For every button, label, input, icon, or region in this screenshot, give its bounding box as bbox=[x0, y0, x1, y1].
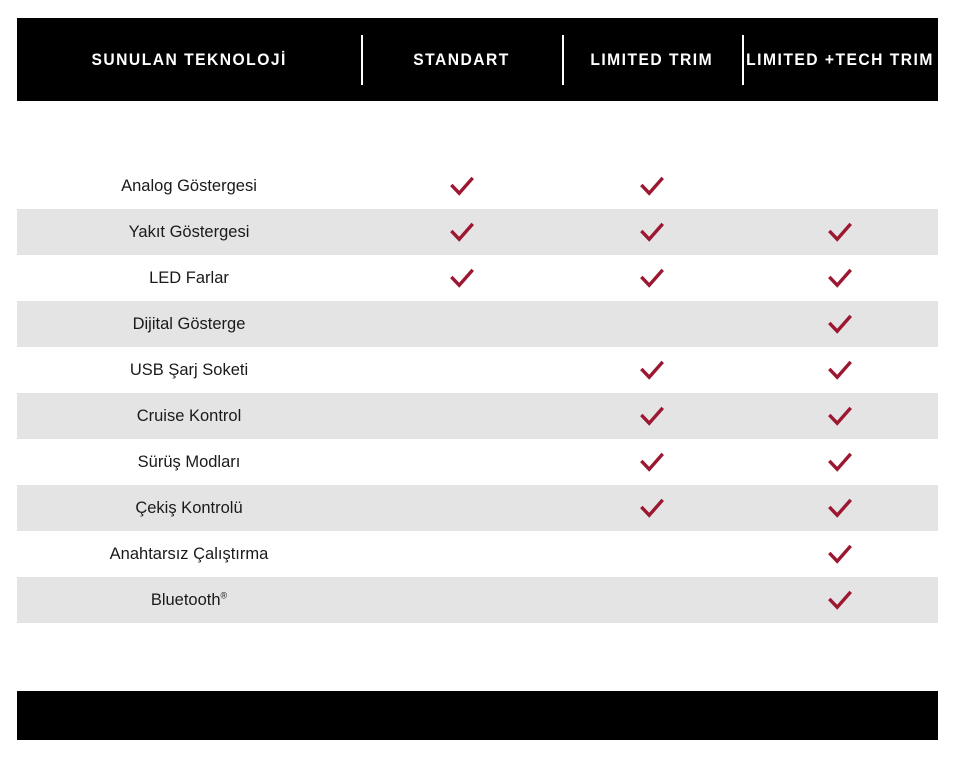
feature-cell: Çekiş Kontrolü bbox=[17, 485, 361, 531]
availability-cell-limited bbox=[562, 439, 742, 485]
availability-cell-limited-tech bbox=[742, 531, 938, 577]
check-icon bbox=[639, 357, 665, 383]
feature-cell: Analog Göstergesi bbox=[17, 163, 361, 209]
feature-cell: Dijital Gösterge bbox=[17, 301, 361, 347]
check-icon bbox=[639, 449, 665, 475]
table-row: Çekiş Kontrolü bbox=[17, 485, 938, 531]
availability-cell-standart bbox=[361, 209, 562, 255]
table-row: Cruise Kontrol bbox=[17, 393, 938, 439]
feature-label: Bluetooth® bbox=[151, 592, 227, 609]
check-icon bbox=[827, 311, 853, 337]
header-cell-standart: STANDART bbox=[361, 18, 562, 101]
feature-cell: Cruise Kontrol bbox=[17, 393, 361, 439]
feature-label: USB Şarj Soketi bbox=[130, 362, 248, 379]
header-cell-feature: SUNULAN TEKNOLOJİ bbox=[17, 18, 361, 101]
check-icon bbox=[827, 265, 853, 291]
check-icon bbox=[449, 219, 475, 245]
availability-cell-standart bbox=[361, 301, 562, 347]
availability-cell-limited-tech bbox=[742, 439, 938, 485]
feature-cell: Bluetooth® bbox=[17, 577, 361, 623]
check-icon bbox=[639, 265, 665, 291]
availability-cell-limited-tech bbox=[742, 301, 938, 347]
feature-label: Analog Göstergesi bbox=[121, 178, 257, 195]
header-label-limited-tech: LIMITED +TECH TRIM bbox=[746, 51, 934, 68]
feature-label: Cruise Kontrol bbox=[137, 408, 242, 425]
check-icon bbox=[449, 173, 475, 199]
feature-cell: Yakıt Göstergesi bbox=[17, 209, 361, 255]
check-icon bbox=[449, 265, 475, 291]
check-icon bbox=[827, 449, 853, 475]
check-icon bbox=[827, 541, 853, 567]
availability-cell-limited-tech bbox=[742, 255, 938, 301]
feature-cell: Sürüş Modları bbox=[17, 439, 361, 485]
header-cell-limited-tech: LIMITED +TECH TRIM bbox=[742, 18, 938, 101]
check-icon bbox=[827, 587, 853, 613]
feature-cell: USB Şarj Soketi bbox=[17, 347, 361, 393]
table-row: Analog Göstergesi bbox=[17, 163, 938, 209]
availability-cell-limited bbox=[562, 255, 742, 301]
availability-cell-standart bbox=[361, 163, 562, 209]
check-icon bbox=[639, 495, 665, 521]
table-row: Anahtarsız Çalıştırma bbox=[17, 531, 938, 577]
check-icon bbox=[827, 357, 853, 383]
table-header-bar: SUNULAN TEKNOLOJİ STANDART LIMITED TRIM … bbox=[17, 18, 938, 101]
comparison-table-page: SUNULAN TEKNOLOJİ STANDART LIMITED TRIM … bbox=[0, 0, 955, 760]
check-icon bbox=[827, 219, 853, 245]
availability-cell-standart bbox=[361, 485, 562, 531]
feature-label: Yakıt Göstergesi bbox=[129, 224, 250, 241]
table-row: Sürüş Modları bbox=[17, 439, 938, 485]
column-divider-2 bbox=[562, 35, 564, 85]
availability-cell-standart bbox=[361, 347, 562, 393]
availability-cell-standart bbox=[361, 577, 562, 623]
table-row: Bluetooth® bbox=[17, 577, 938, 623]
availability-cell-limited bbox=[562, 209, 742, 255]
availability-cell-limited-tech bbox=[742, 209, 938, 255]
availability-cell-limited-tech bbox=[742, 393, 938, 439]
availability-cell-limited bbox=[562, 531, 742, 577]
availability-cell-limited bbox=[562, 485, 742, 531]
table-row: USB Şarj Soketi bbox=[17, 347, 938, 393]
table-row: LED Farlar bbox=[17, 255, 938, 301]
availability-cell-limited bbox=[562, 163, 742, 209]
footer-bar bbox=[17, 691, 938, 740]
feature-label: Anahtarsız Çalıştırma bbox=[110, 546, 269, 563]
feature-label: Dijital Gösterge bbox=[133, 316, 246, 333]
check-icon bbox=[639, 403, 665, 429]
feature-label: LED Farlar bbox=[149, 270, 229, 287]
header-label-standart: STANDART bbox=[413, 51, 510, 68]
availability-cell-limited bbox=[562, 347, 742, 393]
feature-cell: Anahtarsız Çalıştırma bbox=[17, 531, 361, 577]
header-cell-limited: LIMITED TRIM bbox=[562, 18, 742, 101]
availability-cell-limited-tech bbox=[742, 485, 938, 531]
table-row: Dijital Gösterge bbox=[17, 301, 938, 347]
availability-cell-limited-tech bbox=[742, 163, 938, 209]
trademark-superscript: ® bbox=[221, 590, 228, 600]
check-icon bbox=[827, 495, 853, 521]
availability-cell-limited bbox=[562, 577, 742, 623]
table-row: Yakıt Göstergesi bbox=[17, 209, 938, 255]
feature-cell: LED Farlar bbox=[17, 255, 361, 301]
availability-cell-standart bbox=[361, 393, 562, 439]
header-label-limited: LIMITED TRIM bbox=[591, 51, 714, 68]
comparison-table-body: Analog GöstergesiYakıt GöstergesiLED Far… bbox=[17, 163, 938, 623]
check-icon bbox=[827, 403, 853, 429]
availability-cell-limited bbox=[562, 393, 742, 439]
availability-cell-limited-tech bbox=[742, 347, 938, 393]
availability-cell-standart bbox=[361, 531, 562, 577]
column-divider-1 bbox=[361, 35, 363, 85]
availability-cell-standart bbox=[361, 439, 562, 485]
availability-cell-limited-tech bbox=[742, 577, 938, 623]
header-label-feature: SUNULAN TEKNOLOJİ bbox=[91, 51, 286, 68]
check-icon bbox=[639, 219, 665, 245]
feature-label: Sürüş Modları bbox=[138, 454, 241, 471]
availability-cell-limited bbox=[562, 301, 742, 347]
check-icon bbox=[639, 173, 665, 199]
column-divider-3 bbox=[742, 35, 744, 85]
availability-cell-standart bbox=[361, 255, 562, 301]
feature-label: Çekiş Kontrolü bbox=[135, 500, 242, 517]
